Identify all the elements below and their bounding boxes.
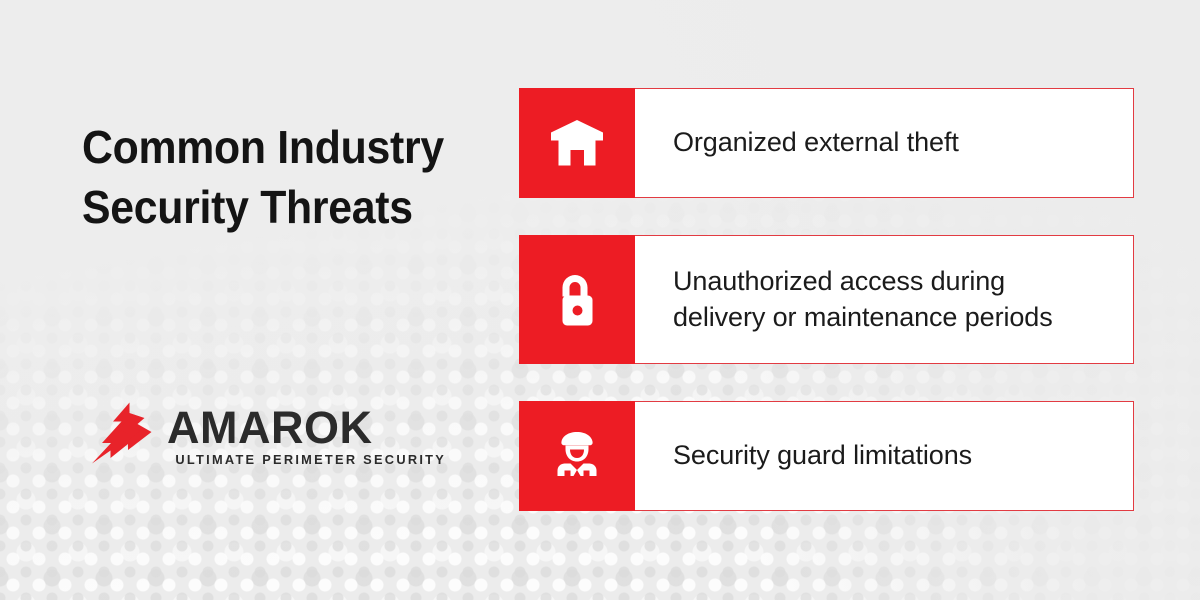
threat-card-body: Organized external theft — [635, 89, 1133, 197]
open-padlock-icon — [552, 272, 602, 328]
warehouse-icon — [550, 118, 604, 168]
threat-card-unauthorized-access[interactable]: Unauthorized access during delivery or m… — [519, 235, 1134, 364]
infographic-canvas: Common Industry Security Threats AMAROK … — [0, 0, 1200, 600]
threat-card-text: Unauthorized access during delivery or m… — [673, 264, 1053, 334]
threat-icon-container — [519, 235, 635, 364]
threat-card-text-line-1: Security guard limitations — [673, 438, 972, 473]
threat-icon-container — [519, 401, 635, 511]
page-title-line-1: Common Industry — [82, 118, 454, 178]
threat-card-organized-external-theft[interactable]: Organized external theft — [519, 88, 1134, 198]
amarok-logo-text: AMAROK ULTIMATE PERIMETER SECURITY — [167, 405, 446, 467]
amarok-tagline: ULTIMATE PERIMETER SECURITY — [175, 452, 446, 467]
amarok-wordmark: AMAROK — [167, 407, 446, 448]
threat-icon-container — [519, 88, 635, 198]
threat-card-text-line-1: Unauthorized access during — [673, 264, 1053, 299]
threat-card-text: Security guard limitations — [673, 438, 972, 473]
threat-card-text-line-1: Organized external theft — [673, 125, 959, 160]
threat-card-body: Security guard limitations — [635, 402, 1133, 510]
threat-card-text: Organized external theft — [673, 125, 959, 160]
threat-card-text-line-2: delivery or maintenance periods — [673, 300, 1053, 335]
amarok-logo: AMAROK ULTIMATE PERIMETER SECURITY — [88, 401, 446, 471]
page-title-line-2: Security Threats — [82, 178, 454, 238]
threat-card-body: Unauthorized access during delivery or m… — [635, 236, 1133, 363]
security-guard-icon — [551, 430, 603, 482]
page-title: Common Industry Security Threats — [82, 118, 454, 238]
amarok-wolf-lightning-mark-icon — [88, 401, 156, 471]
threat-card-security-guard-limitations[interactable]: Security guard limitations — [519, 401, 1134, 511]
threat-list: Organized external theft Unauthorized ac… — [519, 88, 1134, 511]
